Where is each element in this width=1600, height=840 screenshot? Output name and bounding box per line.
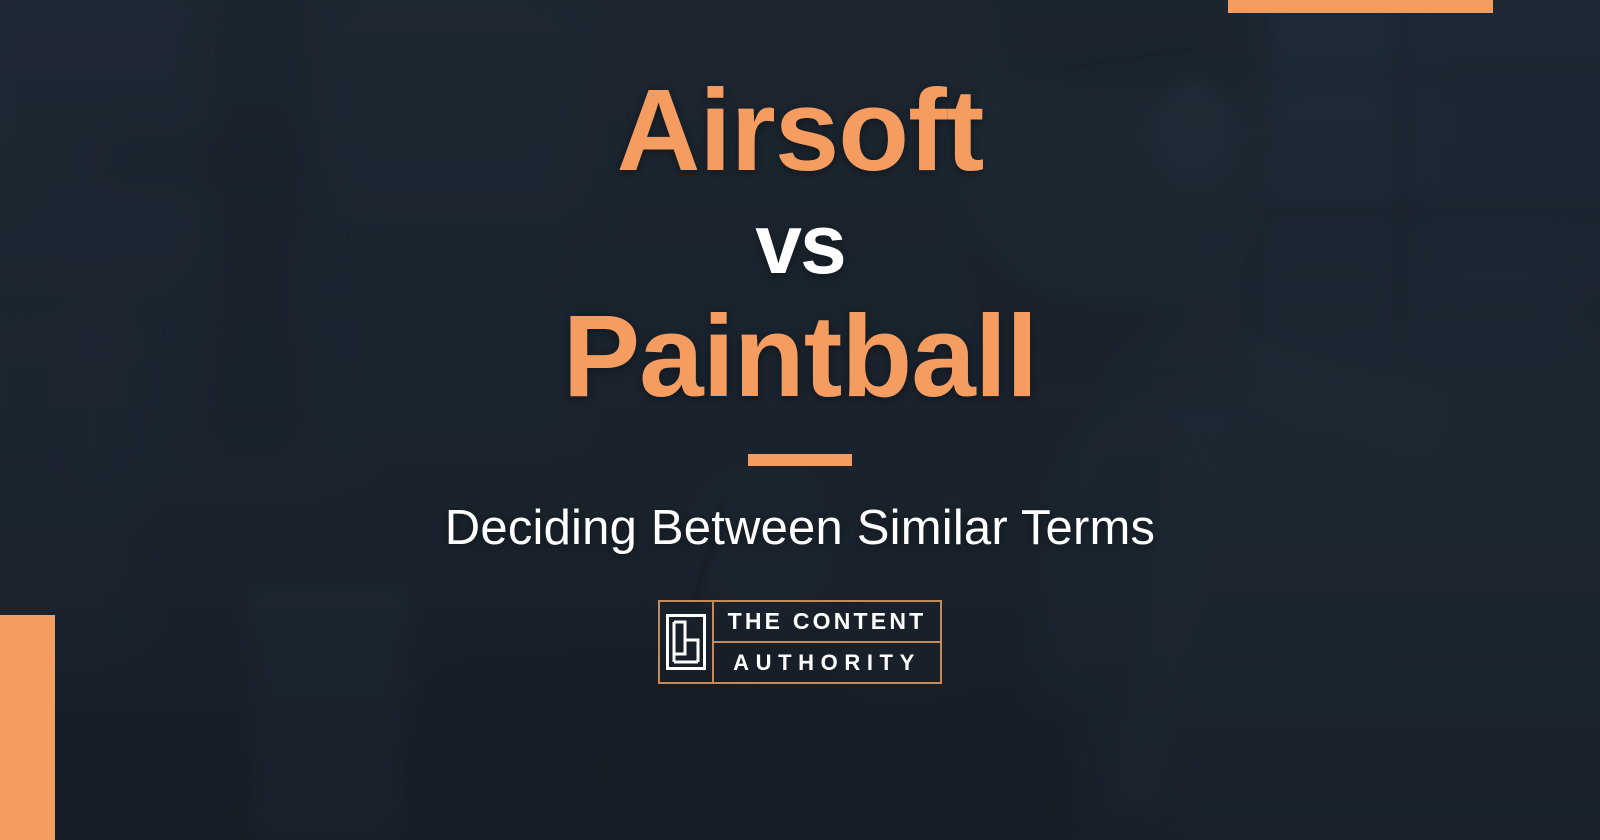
hero-subtitle: Deciding Between Similar Terms [445, 500, 1155, 556]
logo-wordmark: THE CONTENT AUTHORITY [712, 600, 943, 684]
content-authority-monogram-icon [658, 600, 714, 684]
brand-logo[interactable]: THE CONTENT AUTHORITY [658, 600, 943, 684]
hero-banner: Airsoft vs Paintball Deciding Between Si… [0, 0, 1600, 840]
title-line-airsoft: Airsoft [617, 72, 984, 188]
title-line-paintball: Paintball [563, 298, 1037, 414]
title-divider [748, 454, 852, 466]
title-line-vs: vs [755, 202, 844, 286]
logo-word-bottom: AUTHORITY [712, 641, 943, 684]
logo-word-top: THE CONTENT [712, 600, 943, 643]
hero-content: Airsoft vs Paintball Deciding Between Si… [0, 0, 1600, 840]
